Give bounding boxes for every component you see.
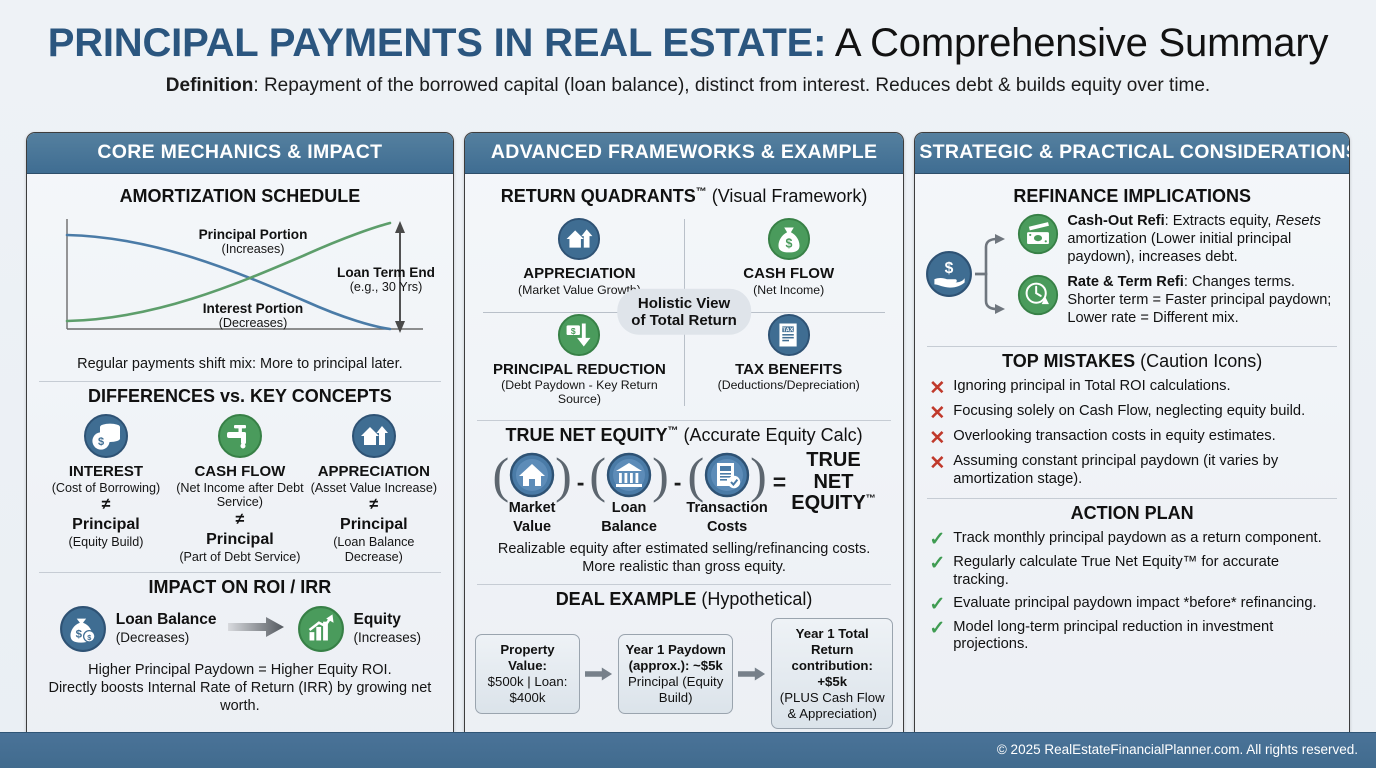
amortization-chart: Principal Portion (Increases) Interest P…	[37, 211, 443, 350]
concept-appreciation-vs-name: Principal	[307, 515, 441, 535]
concept-appreciation-vs-sub: (Loan Balance Decrease)	[307, 535, 441, 564]
deal-box-property-value-rest: $500k | Loan: $400k	[482, 674, 573, 706]
divider	[39, 381, 441, 382]
action-plan-item-4: Model long-term principal reduction in i…	[953, 619, 1337, 655]
concept-appreciation-name: APPRECIATION	[307, 464, 441, 481]
cross-icon: ✕	[929, 454, 945, 473]
page-title-rest: A Comprehensive Summary	[826, 21, 1328, 65]
cross-icon: ✕	[929, 404, 945, 423]
list-item: ✕ Ignoring principal in Total ROI calcul…	[929, 378, 1337, 398]
refi-item-cash-out: Cash-Out Refi: Extracts equity, Resets a…	[1017, 213, 1339, 266]
panel-core-mechanics: CORE MECHANICS & IMPACT AMORTIZATION SCH…	[26, 132, 454, 767]
true-net-equity-equation: ( ) Market Value	[475, 450, 894, 535]
list-item: ✕ Overlooking transaction costs in equit…	[929, 428, 1337, 448]
refinance-block: $	[925, 211, 1339, 336]
equation-term-loan-balance: (	[589, 452, 668, 535]
concept-cash-flow: CASH FLOW (Net Income after Debt Service…	[173, 413, 307, 564]
concept-interest: $ INTEREST (Cost of Borrowing) ≠ Princip…	[39, 413, 173, 564]
top-mistakes-list: ✕ Ignoring principal in Total ROI calcul…	[925, 376, 1339, 489]
panel-core-mechanics-title: CORE MECHANICS & IMPACT	[27, 133, 453, 174]
roi-flow: $ $ Loan Balance (Decreases)	[37, 602, 443, 653]
svg-text:$: $	[785, 237, 792, 251]
refi-item-rate-term-text: Rate & Term Refi: Changes terms. Shorter…	[1067, 274, 1339, 327]
true-net-equity-title: TRUE NET EQUITY™ (Accurate Equity Calc)	[475, 425, 894, 446]
check-icon: ✓	[929, 530, 945, 549]
svg-text:$: $	[87, 633, 91, 642]
roi-right-sub: (Increases)	[354, 630, 422, 645]
concept-cash-flow-neq: ≠	[173, 510, 307, 530]
check-icon: ✓	[929, 619, 945, 638]
return-quadrants-title-bold: RETURN QUADRANTS	[501, 186, 696, 206]
equation-term-market-value-line2: Value	[492, 519, 571, 535]
deal-example-title-bold: DEAL EXAMPLE	[556, 589, 697, 609]
action-plan-item-1: Track monthly principal paydown as a ret…	[953, 530, 1321, 548]
cross-icon: ✕	[929, 429, 945, 448]
principal-curve	[67, 223, 390, 321]
cross-icon: ✕	[929, 379, 945, 398]
concept-cash-flow-vs-sub: (Part of Debt Service)	[173, 550, 307, 564]
panels-row: CORE MECHANICS & IMPACT AMORTIZATION SCH…	[26, 132, 1350, 767]
equation-result-tm: ™	[866, 493, 876, 504]
quadrant-cash-flow-name: CASH FLOW	[688, 266, 889, 283]
equation-term-market-value: ( ) Market Value	[492, 452, 571, 535]
footer-copyright: © 2025 RealEstateFinancialPlanner.com. A…	[997, 742, 1358, 757]
panel-strategic-considerations: STRATEGIC & PRACTICAL CONSIDERATIONS REF…	[914, 132, 1350, 767]
deal-example-flow: Property Value: $500k | Loan: $400k Year…	[475, 614, 894, 729]
true-net-equity-caption-line1: Realizable equity after estimated sellin…	[475, 540, 894, 558]
equation-term-transaction-costs-line1: Transaction	[686, 500, 767, 516]
divider	[927, 498, 1337, 499]
differences-title: DIFFERENCES vs. KEY CONCEPTS	[37, 386, 443, 407]
growth-chart-icon	[297, 605, 345, 653]
concept-cash-flow-name: CASH FLOW	[173, 464, 307, 481]
arrow-right-icon	[738, 666, 766, 682]
refi-item-cash-out-bold: Cash-Out Refi	[1067, 213, 1164, 229]
roi-caption-line1: Higher Principal Paydown = Higher Equity…	[37, 661, 443, 679]
refi-item-rate-term: Rate & Term Refi: Changes terms. Shorter…	[1017, 274, 1339, 327]
roi-left-name: Loan Balance	[116, 611, 217, 628]
check-icon: ✓	[929, 554, 945, 573]
equation-result-line1: TRUE	[791, 450, 875, 471]
right-paren: )	[555, 455, 572, 496]
arrow-right-icon	[226, 614, 288, 645]
panel-advanced-frameworks-title: ADVANCED FRAMEWORKS & EXAMPLE	[465, 133, 904, 174]
true-net-equity-title-tm: ™	[668, 425, 679, 437]
coins-icon: $	[39, 413, 173, 459]
branch-arrows-icon	[973, 225, 1015, 323]
top-mistakes-item-1: Ignoring principal in Total ROI calculat…	[953, 378, 1230, 396]
refi-item-cash-out-text-a: : Extracts equity,	[1165, 213, 1276, 229]
true-net-equity-title-bold: TRUE NET EQUITY	[506, 425, 668, 445]
concept-interest-vs-sub: (Equity Build)	[39, 535, 173, 549]
concept-appreciation-neq: ≠	[307, 495, 441, 515]
amortization-caption: Regular payments shift mix: More to prin…	[37, 355, 443, 373]
definition-label: Definition	[166, 75, 254, 96]
holistic-view-line2: of Total Return	[631, 312, 737, 329]
roi-left-label: Loan Balance (Decreases)	[116, 611, 217, 646]
right-paren: )	[750, 455, 767, 496]
top-mistakes-item-2: Focusing solely on Cash Flow, neglecting…	[953, 403, 1305, 421]
roi-right-name: Equity	[354, 611, 422, 628]
holistic-view-line1: Holistic View	[631, 294, 737, 311]
deal-box-year1-total-return-rest: (PLUS Cash Flow & Appreciation)	[778, 690, 886, 722]
left-paren: (	[687, 455, 704, 496]
definition-text: : Repayment of the borrowed capital (loa…	[253, 75, 1210, 96]
amortization-chart-svg	[45, 213, 445, 345]
right-paren: )	[652, 455, 669, 496]
equation-term-transaction-costs-line2: Costs	[686, 519, 767, 535]
left-paren: (	[589, 455, 606, 496]
quadrant-appreciation-name: APPRECIATION	[479, 266, 680, 283]
deal-box-property-value: Property Value: $500k | Loan: $400k	[475, 634, 580, 713]
interest-curve	[67, 235, 390, 329]
action-plan-item-2: Regularly calculate True Net Equity™ for…	[953, 554, 1337, 590]
definition-line: Definition: Repayment of the borrowed ca…	[0, 75, 1376, 97]
list-item: ✓ Track monthly principal paydown as a r…	[929, 530, 1337, 549]
concept-interest-neq: ≠	[39, 495, 173, 515]
equation-term-loan-balance-line2: Balance	[589, 519, 668, 535]
list-item: ✕ Focusing solely on Cash Flow, neglecti…	[929, 403, 1337, 423]
list-item: ✓ Evaluate principal paydown impact *bef…	[929, 595, 1337, 614]
equation-term-transaction-costs: (	[686, 452, 767, 535]
divider	[477, 420, 892, 421]
roi-title: IMPACT ON ROI / IRR	[37, 577, 443, 598]
concept-interest-vs-name: Principal	[39, 515, 173, 535]
true-net-equity-caption-line2: More realistic than gross equity.	[475, 558, 894, 576]
house-arrow-up-icon	[479, 217, 680, 261]
refinance-title: REFINANCE IMPLICATIONS	[925, 186, 1339, 207]
refi-item-cash-out-text: Cash-Out Refi: Extracts equity, Resets a…	[1067, 213, 1339, 266]
roi-caption: Higher Principal Paydown = Higher Equity…	[37, 661, 443, 715]
check-icon: ✓	[929, 595, 945, 614]
page-title-highlight: PRINCIPAL PAYMENTS IN REAL ESTATE:	[48, 21, 826, 65]
true-net-equity-title-light: (Accurate Equity Calc)	[679, 425, 863, 445]
return-quadrants-title: RETURN QUADRANTS™ (Visual Framework)	[475, 186, 894, 207]
action-plan-item-3: Evaluate principal paydown impact *befor…	[953, 595, 1316, 613]
panel-advanced-frameworks: ADVANCED FRAMEWORKS & EXAMPLE RETURN QUA…	[464, 132, 905, 767]
divider	[477, 584, 892, 585]
top-mistakes-title-bold: TOP MISTAKES	[1002, 351, 1135, 371]
infographic-page: PRINCIPAL PAYMENTS IN REAL ESTATE: A Com…	[0, 0, 1376, 768]
deal-box-year1-total-return-bold: Year 1 Total Return contribution: +$5k	[792, 626, 873, 689]
refi-item-cash-out-italic: Resets	[1275, 213, 1320, 229]
roi-caption-line2: Directly boosts Internal Rate of Return …	[37, 679, 443, 715]
quadrant-tax-benefits-name: TAX BENEFITS	[688, 362, 889, 379]
roi-left-sub: (Decreases)	[116, 630, 190, 645]
list-item: ✓ Regularly calculate True Net Equity™ f…	[929, 554, 1337, 590]
quadrant-tax-benefits-sub: (Deductions/Depreciation)	[688, 378, 889, 392]
deal-box-year1-total-return: Year 1 Total Return contribution: +$5k (…	[771, 618, 893, 729]
list-item: ✓ Model long-term principal reduction in…	[929, 619, 1337, 655]
deal-example-title-light: (Hypothetical)	[696, 589, 812, 609]
top-mistakes-item-4: Assuming constant principal paydown (it …	[953, 453, 1337, 489]
quadrant-principal-reduction-sub: (Debt Paydown - Key Return Source)	[479, 378, 680, 406]
panel-strategic-considerations-title: STRATEGIC & PRACTICAL CONSIDERATIONS	[915, 133, 1349, 174]
svg-text:$: $	[945, 260, 954, 277]
deal-box-year1-paydown: Year 1 Paydown (approx.): ~$5k Principal…	[618, 634, 733, 713]
equation-operator-minus-1: -	[574, 469, 588, 496]
document-check-icon	[704, 452, 750, 498]
money-bag-icon: $	[688, 217, 889, 261]
divider	[927, 346, 1337, 347]
top-mistakes-item-3: Overlooking transaction costs in equity …	[953, 428, 1275, 446]
deal-box-year1-paydown-bold: Year 1 Paydown (approx.): ~$5k	[625, 642, 725, 673]
amortization-title: AMORTIZATION SCHEDULE	[37, 186, 443, 207]
deal-box-year1-paydown-rest: Principal (Equity Build)	[625, 674, 726, 706]
divider	[39, 572, 441, 573]
top-mistakes-title-light: (Caution Icons)	[1135, 351, 1262, 371]
return-quadrants-title-tm: ™	[696, 186, 707, 198]
concept-interest-sub: (Cost of Borrowing)	[39, 481, 173, 495]
svg-text:$: $	[75, 628, 82, 640]
refi-item-rate-term-bold: Rate & Term Refi	[1067, 274, 1184, 290]
svg-text:TAX: TAX	[782, 327, 793, 333]
money-bag-dollar-icon: $ $	[59, 605, 107, 653]
holistic-view-badge: Holistic View of Total Return	[617, 288, 751, 335]
faucet-icon	[173, 413, 307, 459]
equation-result: TRUE NET EQUITY™	[791, 450, 875, 514]
concept-cash-flow-vs-name: Principal	[173, 530, 307, 550]
footer-bar: © 2025 RealEstateFinancialPlanner.com. A…	[0, 732, 1376, 768]
equation-result-line3: EQUITY	[791, 492, 865, 514]
refinance-source: $	[925, 225, 1015, 323]
equation-operator-equals: =	[770, 469, 789, 496]
hand-dollar-icon: $	[925, 250, 973, 298]
deal-box-property-value-bold: Property Value:	[500, 642, 554, 673]
top-mistakes-title: TOP MISTAKES (Caution Icons)	[925, 351, 1339, 372]
differences-list: $ INTEREST (Cost of Borrowing) ≠ Princip…	[37, 411, 443, 564]
deal-example-title: DEAL EXAMPLE (Hypothetical)	[475, 589, 894, 610]
action-plan-list: ✓ Track monthly principal paydown as a r…	[925, 528, 1339, 655]
concept-appreciation: APPRECIATION (Asset Value Increase) ≠ Pr…	[307, 413, 441, 564]
svg-text:$: $	[571, 326, 576, 336]
concept-appreciation-sub: (Asset Value Increase)	[307, 481, 441, 495]
page-title: PRINCIPAL PAYMENTS IN REAL ESTATE: A Com…	[0, 0, 1376, 64]
house-arrow-up-icon	[307, 413, 441, 459]
clock-chart-icon	[1017, 274, 1059, 316]
house-icon	[509, 452, 555, 498]
equation-operator-minus-2: -	[671, 469, 685, 496]
concept-cash-flow-sub: (Net Income after Debt Service)	[173, 481, 307, 510]
quadrant-principal-reduction-name: PRINCIPAL REDUCTION	[479, 362, 680, 379]
cash-stack-icon	[1017, 213, 1059, 255]
roi-right-label: Equity (Increases)	[354, 611, 422, 646]
list-item: ✕ Assuming constant principal paydown (i…	[929, 453, 1337, 489]
refi-item-cash-out-text-b: amortization (Lower initial principal pa…	[1067, 231, 1291, 265]
arrow-right-icon	[585, 666, 613, 682]
return-quadrants-grid: Holistic View of Total Return	[475, 211, 894, 412]
true-net-equity-caption: Realizable equity after estimated sellin…	[475, 540, 894, 576]
action-plan-title: ACTION PLAN	[925, 503, 1339, 524]
concept-interest-name: INTEREST	[39, 464, 173, 481]
svg-text:$: $	[98, 436, 104, 448]
equation-result-line2: NET	[791, 472, 875, 493]
return-quadrants-title-light: (Visual Framework)	[707, 186, 868, 206]
bank-icon	[606, 452, 652, 498]
left-paren: (	[492, 455, 509, 496]
